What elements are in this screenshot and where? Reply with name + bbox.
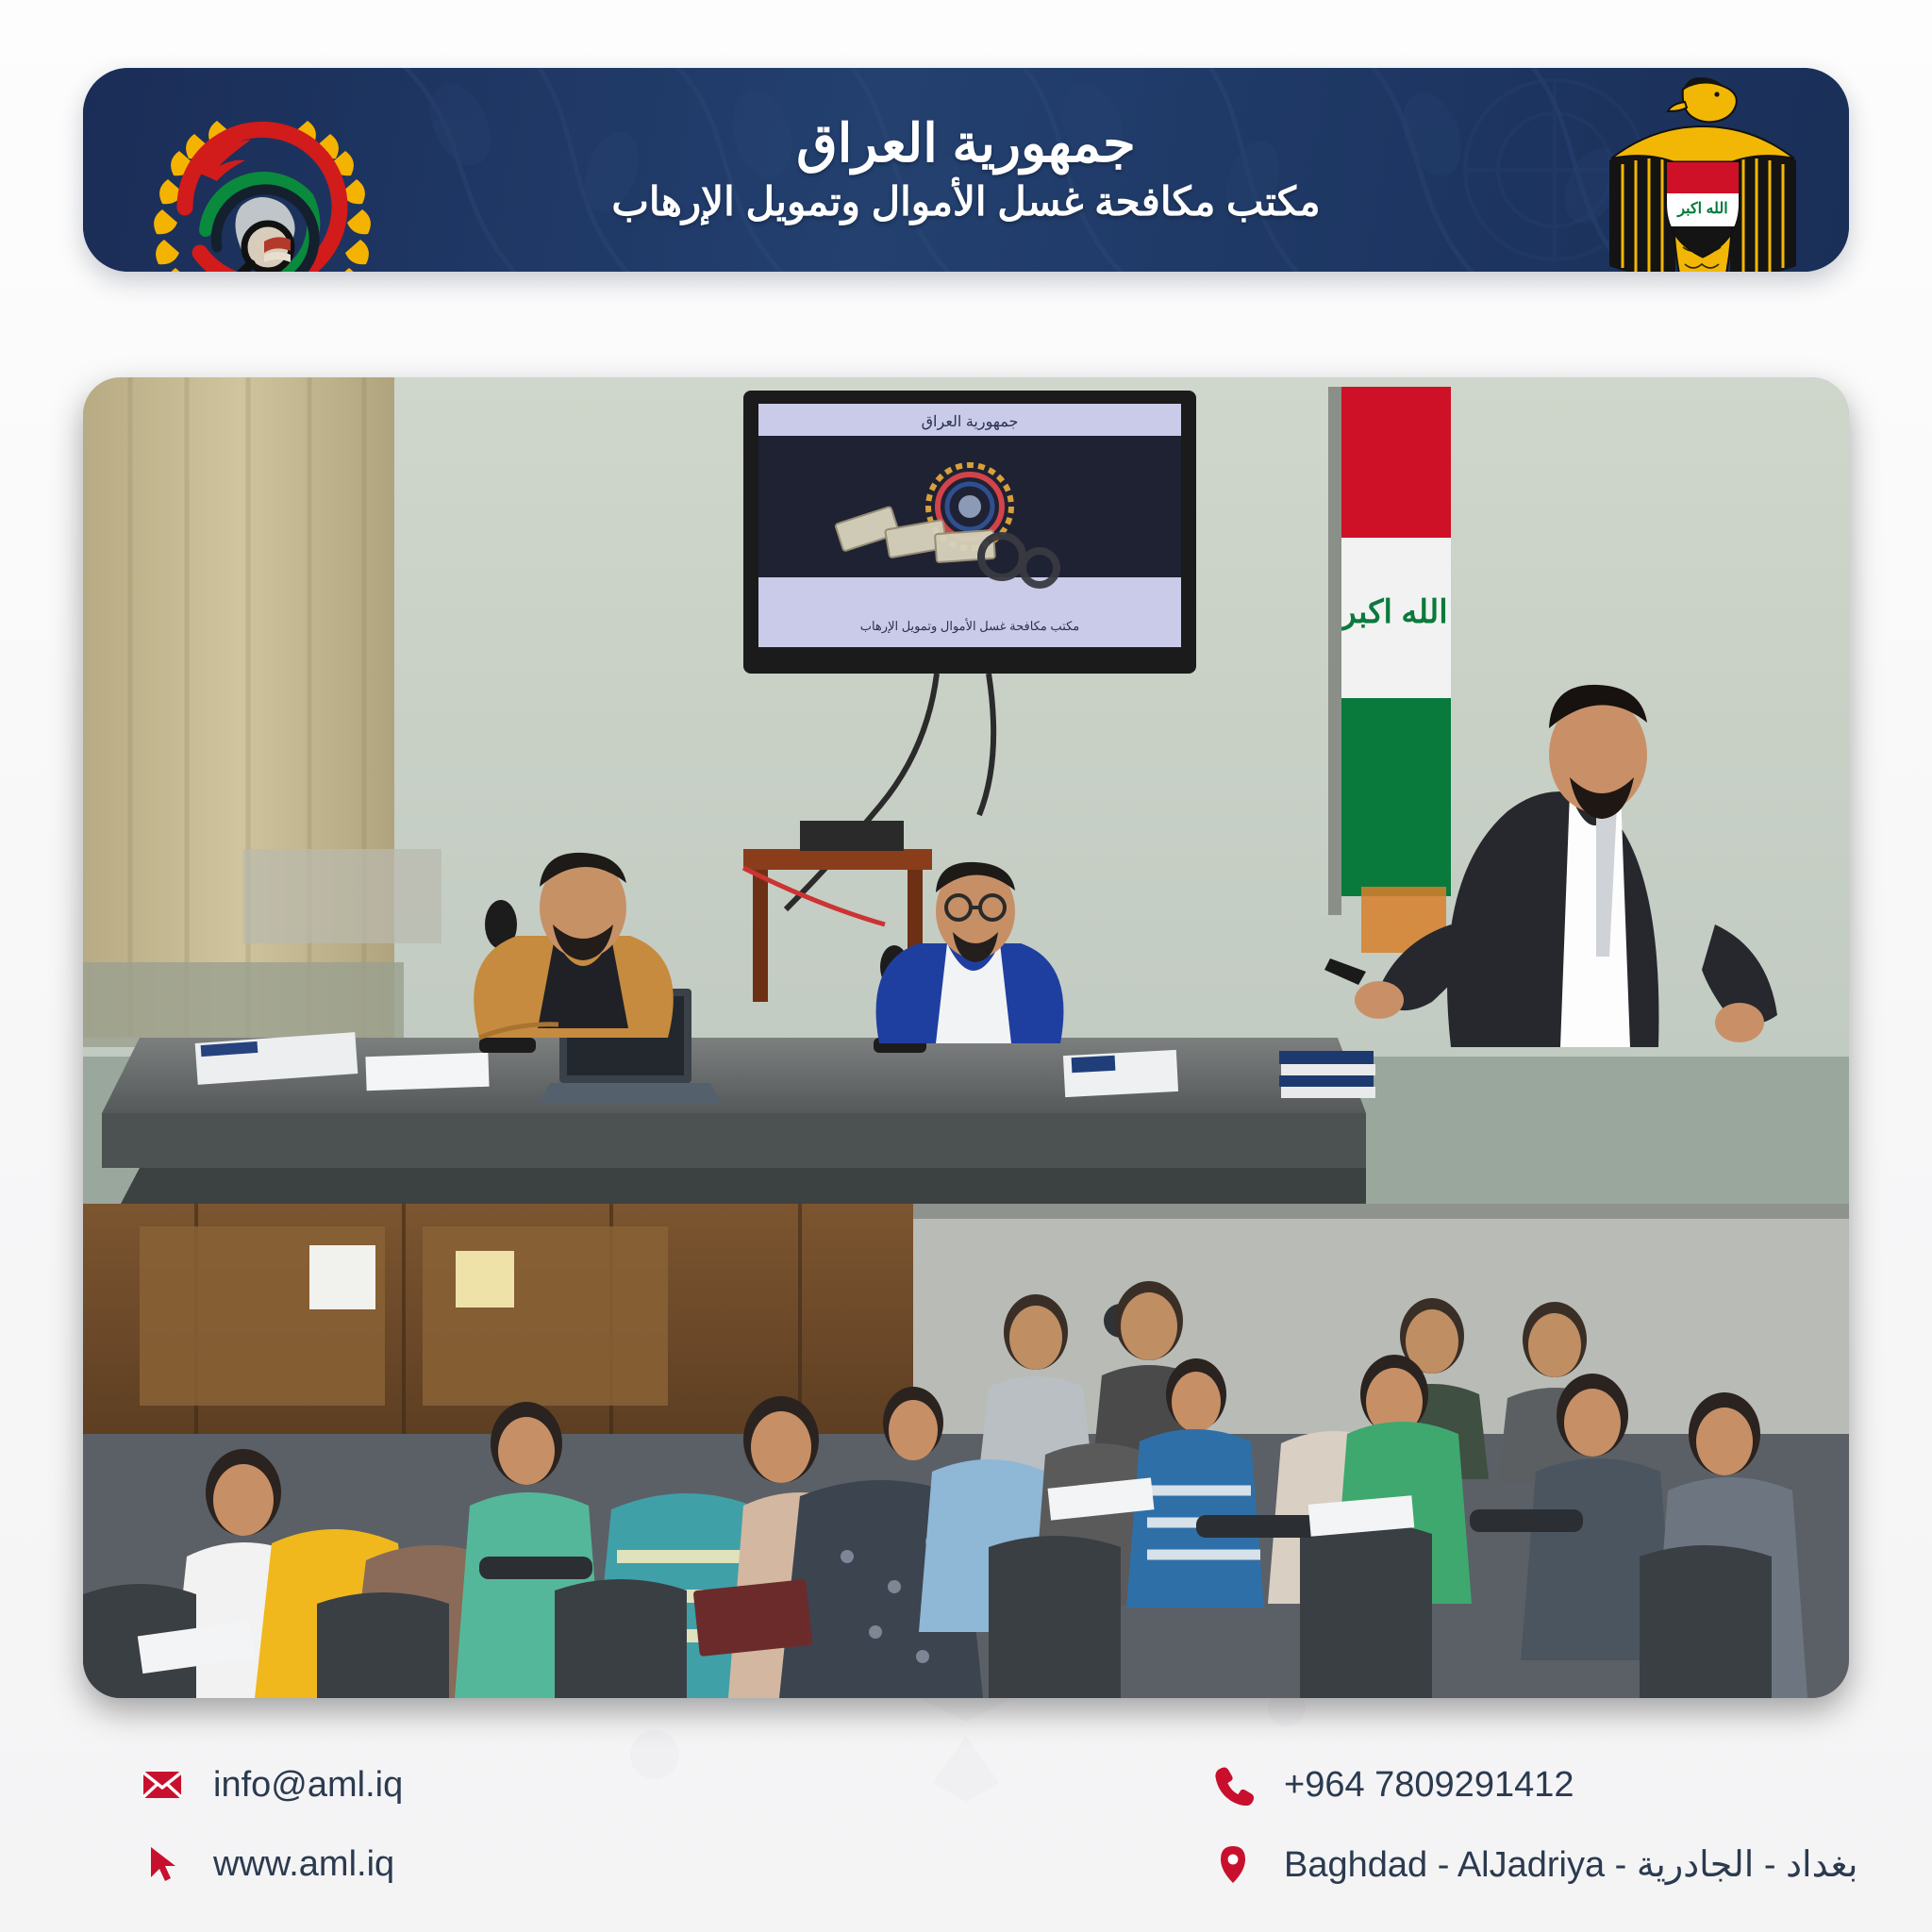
event-photo: جمهورية العراق مكتب مكافحة غسل الأموال و… [83, 377, 1849, 1698]
slide-title: جمهورية العراق [922, 414, 1019, 430]
footer-left-column: info@aml.iq www.aml.iq [142, 1745, 858, 1904]
footer-phone-row[interactable]: +964 7809291412 [1212, 1745, 1873, 1824]
event-photo-illustration: جمهورية العراق مكتب مكافحة غسل الأموال و… [83, 377, 1849, 1698]
header-banner: جمهورية العراق مكتب مكافحة غسل الأموال و… [83, 68, 1849, 272]
location-pin-icon [1212, 1843, 1254, 1885]
envelope-icon [142, 1764, 183, 1806]
footer-phone-text: +964 7809291412 [1284, 1765, 1574, 1806]
anti-money-laundering-office-logo [136, 81, 389, 272]
footer-right-column: +964 7809291412 Baghdad - AlJadriya - بغ… [1212, 1745, 1873, 1904]
footer-email-text: info@aml.iq [213, 1765, 403, 1806]
social-media-announcement-card: جمهورية العراق مكتب مكافحة غسل الأموال و… [0, 0, 1932, 1932]
footer-website-row[interactable]: www.aml.iq [142, 1824, 858, 1904]
phone-icon [1212, 1764, 1254, 1806]
footer-address-text: Baghdad - AlJadriya - بغداد - الجادرية [1284, 1843, 1857, 1886]
page-subtitle: مكتب مكافحة غسل الأموال وتمويل الإرهاب [611, 180, 1320, 224]
iraq-coat-of-arms-eagle-of-saladin: الله اكبر جمهورية العراق [1585, 70, 1821, 272]
svg-text:الله اكبر: الله اكبر [1339, 594, 1447, 631]
footer-website-text: www.aml.iq [213, 1844, 394, 1885]
slide-caption: مكتب مكافحة غسل الأموال وتمويل الإرهاب [860, 618, 1080, 634]
page-title: جمهورية العراق [796, 116, 1136, 172]
footer-email-row[interactable]: info@aml.iq [142, 1745, 858, 1824]
cursor-arrow-icon [142, 1843, 183, 1885]
footer-contact-bar: info@aml.iq www.aml.iq +964 7809291412 [0, 1726, 1932, 1932]
header-text-block: جمهورية العراق مكتب مكافحة غسل الأموال و… [366, 68, 1566, 272]
shield-takbir-text: الله اكبر [1676, 201, 1727, 218]
footer-address-row[interactable]: Baghdad - AlJadriya - بغداد - الجادرية [1212, 1824, 1873, 1904]
